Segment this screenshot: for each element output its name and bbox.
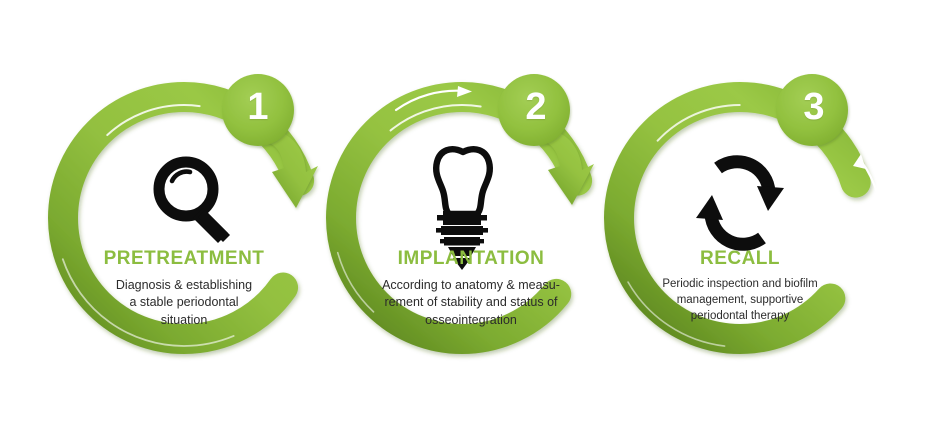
dental-implant-icon [436,149,490,270]
step-1-ring-group [56,74,319,346]
step-1-flow-arrow-icon [300,259,319,308]
recycle-cycle-icon [696,162,784,245]
step-2-ring-group [333,74,594,347]
step-1-number-badge [222,74,294,146]
step-3-ring-group [611,74,882,347]
magnifier-icon [159,162,230,243]
step-3-number-badge [776,74,848,146]
step-2-number-badge [498,74,570,146]
infographic-canvas: 1 2 3 PRETREATMENT Diagnosis & establish… [0,0,940,425]
process-cycle-graphic [0,0,940,425]
